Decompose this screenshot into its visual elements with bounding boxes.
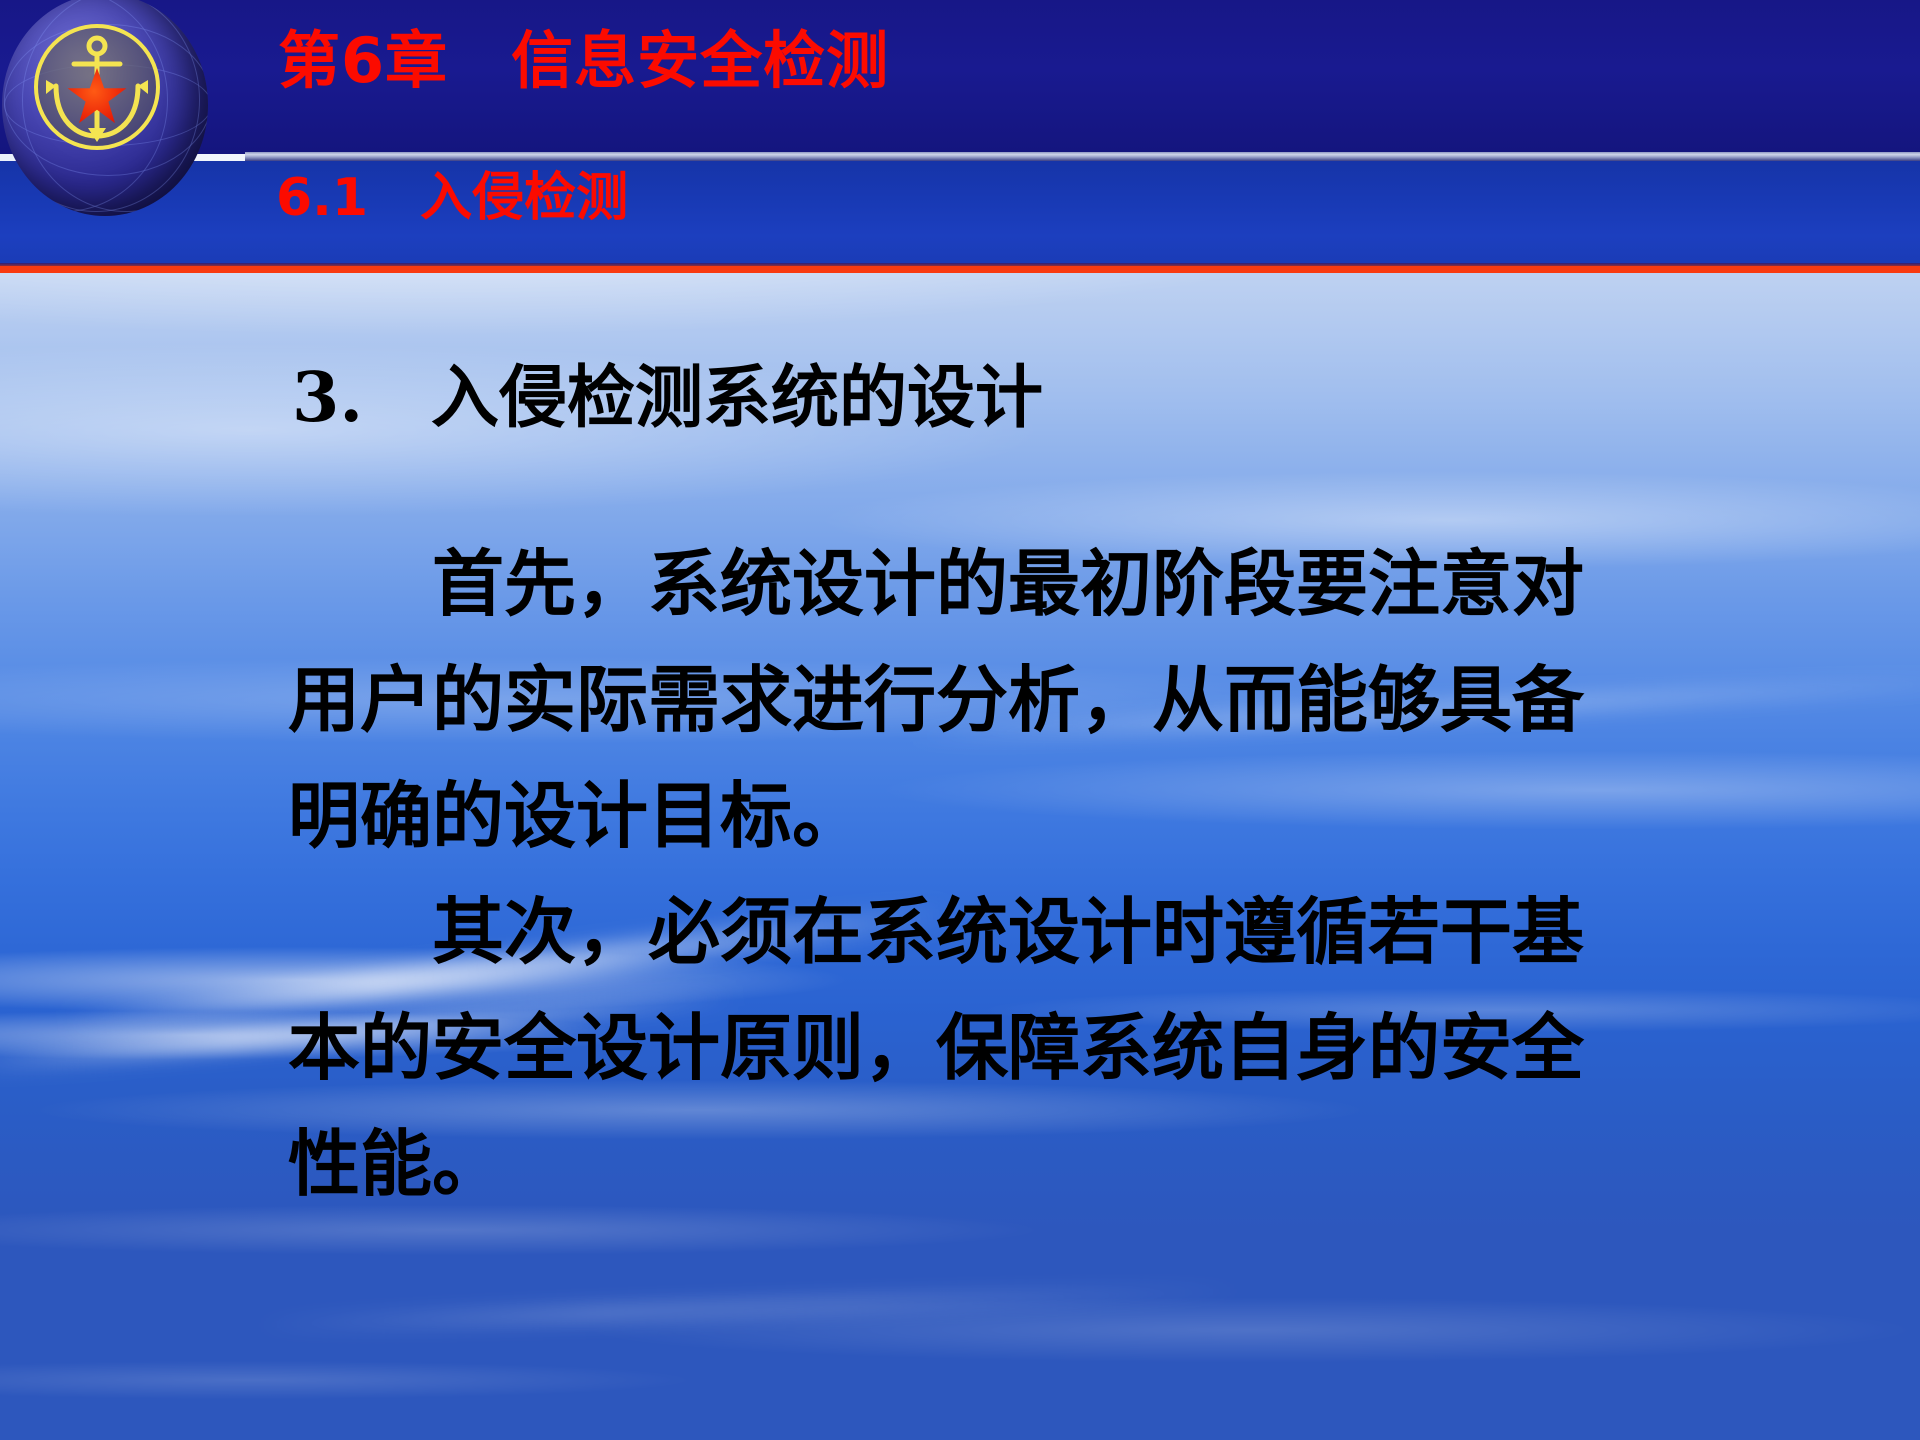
organization-emblem-logo (0, 0, 212, 218)
section-title: 6.1 入侵检测 (276, 167, 628, 229)
content-paragraph-1: 首先，系统设计的最初阶段要注意对用户的实际需求进行分析，从而能够具备明确的设计目… (288, 526, 1648, 874)
content-paragraph-2: 其次，必须在系统设计时遵循若干基本的安全设计原则，保障系统自身的安全性能。 (288, 874, 1648, 1222)
section-band: 6.1 入侵检测 (0, 161, 1920, 268)
content-heading: 3. 入侵检测系统的设计 (292, 361, 1043, 436)
header-divider-rule (245, 152, 1920, 161)
header-red-rule (0, 266, 1920, 273)
emblem-icon (34, 24, 166, 156)
presentation-slide: 第6章 信息安全检测 6.1 入侵检测 (0, 0, 1920, 1440)
chapter-title: 第6章 信息安全检测 (278, 28, 889, 93)
slide-content-area: 3. 入侵检测系统的设计 首先，系统设计的最初阶段要注意对用户的实际需求进行分析… (0, 273, 1920, 1440)
slide-header-band: 第6章 信息安全检测 (0, 0, 1920, 154)
